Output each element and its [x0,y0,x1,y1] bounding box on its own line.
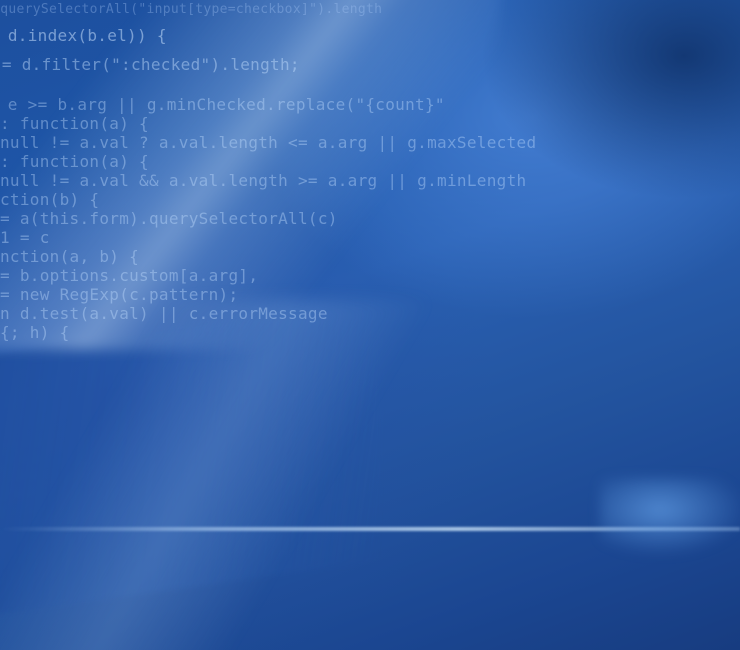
code-line: = new RegExp(c.pattern); [0,285,238,304]
code-line: {; h) { [0,323,70,342]
code-line: null != a.val ? a.val.length <= a.arg ||… [0,133,536,152]
code-line: : function(a) { [0,114,149,133]
code-line: rn e >= b.arg || g.minChecked.replace("{… [0,95,445,114]
promo-banner: g.querySelectorAll("input[type=checkbox]… [0,0,740,650]
code-line: 1 = c [0,228,50,247]
code-line: null != a.val && a.val.length >= a.arg |… [0,171,526,190]
background-glow-blob [600,478,740,558]
code-line: e = d.filter(":checked").length; [0,55,300,74]
code-line: = b.options.custom[a.arg], [0,266,258,285]
code-line: ction(b) { [0,190,99,209]
code-line: = a(this.form).querySelectorAll(c) [0,209,338,228]
code-line: n d.test(a.val) || c.errorMessage [0,304,328,323]
code-line: = d.index(b.el)) { [0,26,167,45]
code-line: : function(a) { [0,152,149,171]
code-line: nction(a, b) { [0,247,139,266]
code-line: g.querySelectorAll("input[type=checkbox]… [0,2,382,17]
